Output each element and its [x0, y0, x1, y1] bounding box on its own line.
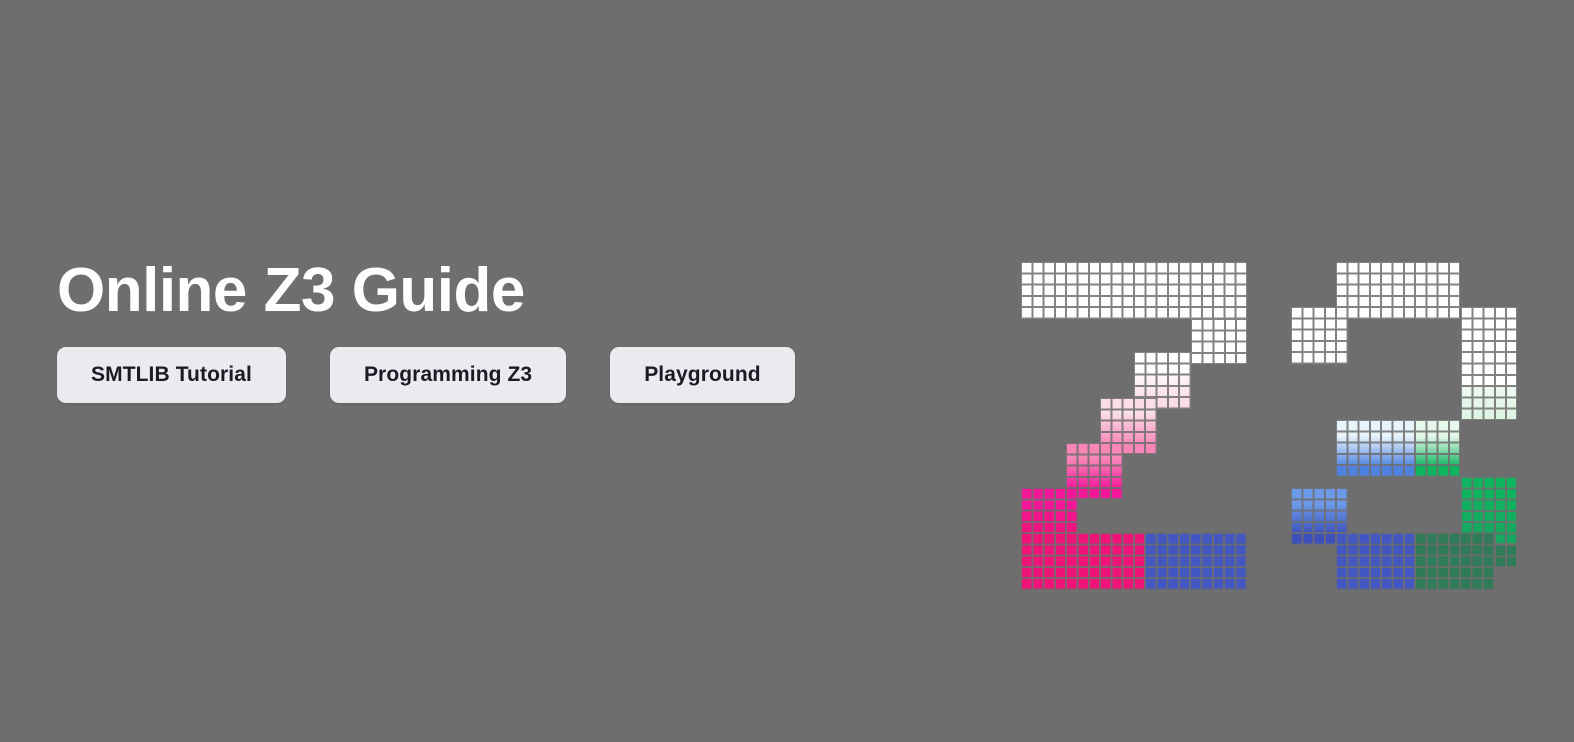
pixel-grid-lines	[1336, 420, 1415, 477]
three-bottom-blue	[1336, 533, 1415, 590]
pixel-grid-lines	[1021, 533, 1145, 590]
playground-button[interactable]: Playground	[610, 347, 795, 403]
pixel-grid-lines	[1461, 386, 1518, 420]
z-top-right-tail	[1191, 319, 1248, 364]
cta-button-row: SMTLIB Tutorial Programming Z3 Playgroun…	[57, 347, 937, 403]
three-mid-bar-blue	[1336, 420, 1415, 477]
pixel-grid-lines	[1191, 319, 1248, 364]
three-mid-bar-green	[1415, 420, 1460, 477]
pixel-grid-lines	[1021, 262, 1247, 319]
pixel-grid-lines	[1415, 420, 1460, 477]
page-title: Online Z3 Guide	[57, 258, 937, 325]
three-upper-right	[1461, 307, 1518, 386]
z-top-bar	[1021, 262, 1247, 319]
hero-section: Online Z3 Guide SMTLIB Tutorial Programm…	[0, 0, 1574, 742]
pixel-grid-lines	[1291, 307, 1348, 364]
pixel-grid-lines	[1336, 533, 1415, 590]
hero-text-column: Online Z3 Guide SMTLIB Tutorial Programm…	[57, 258, 937, 403]
pixel-grid-lines	[1415, 533, 1494, 590]
pixel-grid-lines	[1336, 262, 1460, 319]
three-upper-right-g	[1461, 386, 1518, 420]
three-bottom-green	[1415, 533, 1494, 590]
logo-glyph-z	[1021, 262, 1247, 590]
z-bottom-pink	[1021, 533, 1145, 590]
three-top-bar	[1336, 262, 1460, 319]
programming-z3-button[interactable]: Programming Z3	[330, 347, 566, 403]
pixel-grid-lines	[1461, 307, 1518, 386]
logo-glyph-3	[1291, 262, 1517, 590]
smtlib-tutorial-button[interactable]: SMTLIB Tutorial	[57, 347, 286, 403]
z-bottom-blue	[1145, 533, 1247, 590]
three-top-left-stub	[1291, 307, 1348, 364]
pixel-grid-lines	[1145, 533, 1247, 590]
